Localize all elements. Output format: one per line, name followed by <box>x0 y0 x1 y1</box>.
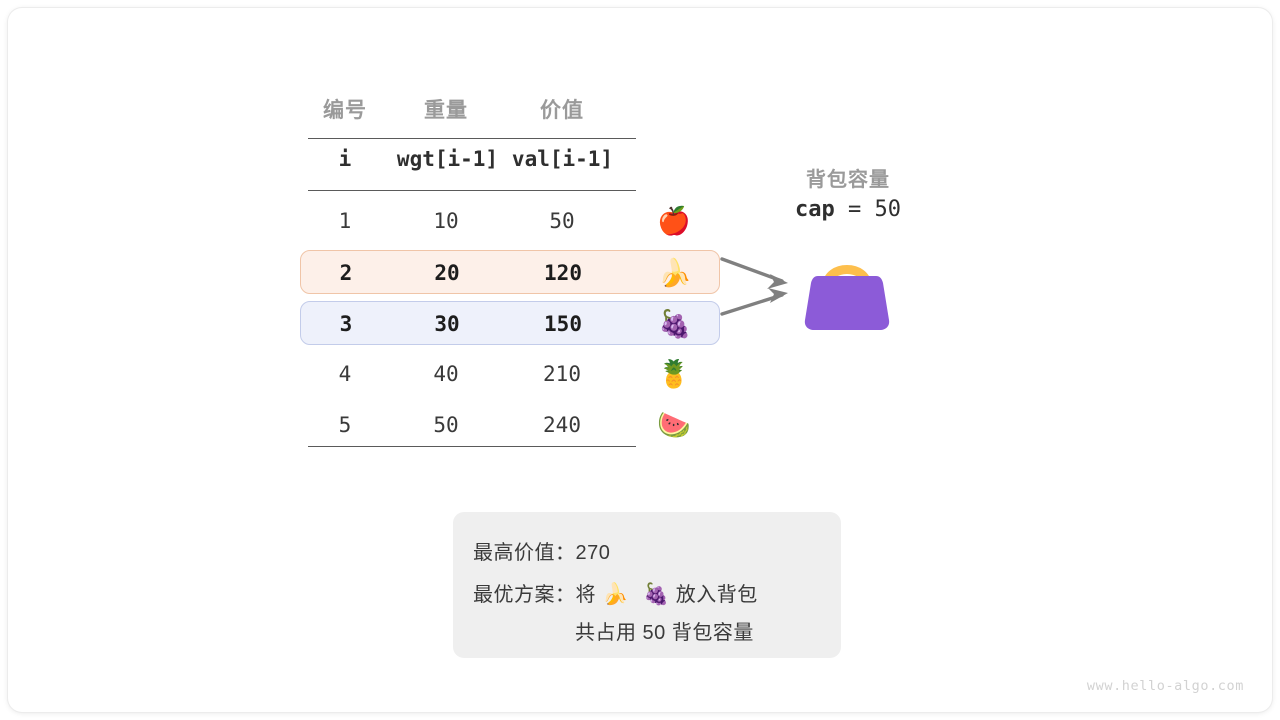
code-header-weight: wgt[i-1] <box>390 147 505 171</box>
capacity-label: 背包容量 <box>746 163 950 192</box>
cell-value: 240 <box>522 403 602 447</box>
arrows-group <box>720 254 810 344</box>
pineapple-icon: 🍍 <box>648 352 700 396</box>
code-header-value: val[i-1] <box>505 147 620 171</box>
capacity-value: cap = 50 <box>746 197 950 222</box>
capacity-number: 50 <box>875 197 902 222</box>
items-table: 编号 重量 价值 i wgt[i-1] val[i-1] 1 10 50 🍎 2… <box>300 94 730 454</box>
column-header-value: 价值 <box>522 94 602 124</box>
cell-index: 2 <box>311 251 381 295</box>
column-header-index: 编号 <box>310 94 380 124</box>
table-row: 5 50 240 🍉 <box>300 403 720 447</box>
cell-index: 3 <box>311 302 381 346</box>
capacity-var: cap <box>795 197 835 222</box>
table-row: 4 40 210 🍍 <box>300 352 720 396</box>
table-row: 1 10 50 🍎 <box>300 199 720 243</box>
cell-weight: 20 <box>407 251 487 295</box>
capacity-equals: = <box>835 197 875 222</box>
handbag-icon <box>801 242 893 332</box>
table-rule-top <box>308 138 636 139</box>
table-rule-bottom <box>308 446 636 447</box>
result-panel: 最高价值：270 最优方案：将 🍌 🍇 放入背包 共占用 50 背包容量 <box>453 512 841 658</box>
handbag-body <box>805 276 889 330</box>
diagram-canvas: 编号 重量 价值 i wgt[i-1] val[i-1] 1 10 50 🍎 2… <box>8 8 1272 712</box>
column-header-weight: 重量 <box>406 94 486 124</box>
cell-weight: 40 <box>406 352 486 396</box>
cell-value: 210 <box>522 352 602 396</box>
cell-weight: 50 <box>406 403 486 447</box>
watermark: www.hello-algo.com <box>1087 678 1244 694</box>
code-header-index: i <box>310 147 380 171</box>
result-plan-suffix: 放入背包 <box>670 584 758 606</box>
table-rule-middle <box>308 190 636 191</box>
result-used-capacity: 共占用 50 背包容量 <box>575 616 754 645</box>
table-row-highlighted-grapes: 3 30 150 🍇 <box>300 301 720 345</box>
result-best-plan: 最优方案：将 🍌 🍇 放入背包 <box>473 578 758 607</box>
cell-index: 1 <box>310 199 380 243</box>
banana-icon: 🍌 <box>649 251 701 295</box>
cell-value: 150 <box>523 302 603 346</box>
cell-weight: 10 <box>406 199 486 243</box>
cell-index: 5 <box>310 403 380 447</box>
result-plan-prefix: 最优方案：将 <box>473 584 602 606</box>
cell-value: 50 <box>522 199 602 243</box>
apple-icon: 🍎 <box>648 199 700 243</box>
cell-index: 4 <box>310 352 380 396</box>
result-chosen-items-icons: 🍌 🍇 <box>602 582 670 606</box>
table-row-highlighted-banana: 2 20 120 🍌 <box>300 250 720 294</box>
cell-weight: 30 <box>407 302 487 346</box>
arrow-head-lower <box>768 288 788 303</box>
cell-value: 120 <box>523 251 603 295</box>
result-max-value: 最高价值：270 <box>473 536 610 565</box>
watermelon-icon: 🍉 <box>648 403 700 447</box>
grapes-icon: 🍇 <box>649 302 701 346</box>
